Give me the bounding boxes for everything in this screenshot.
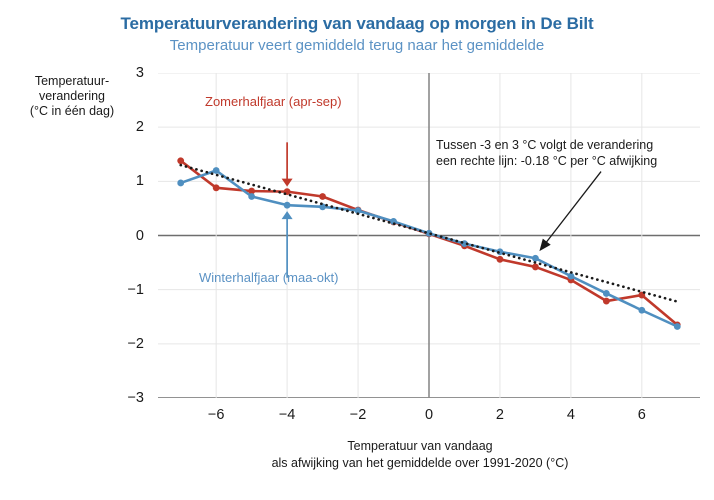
x-axis-tick-label: −2 — [338, 407, 378, 423]
series-label-winter: Winterhalfjaar (maa-okt) — [199, 270, 338, 285]
data-point-winter-7[interactable] — [674, 323, 681, 330]
y-axis-tick-label: −1 — [110, 282, 144, 298]
page-subtitle: Temperatuur veert gemiddeld terug naar h… — [0, 37, 714, 54]
trend-annotation-arrow-line — [546, 172, 601, 244]
data-point-winter-5[interactable] — [603, 290, 610, 297]
trendline-annotation-line2: een rechte lijn: -0.18 °C per °C afwijki… — [436, 153, 657, 169]
data-point-summer-5[interactable] — [603, 298, 610, 305]
trend-annotation-arrow-head — [539, 239, 550, 252]
chart-canvas — [158, 73, 700, 398]
chart-page: Temperatuurverandering van vandaag op mo… — [0, 0, 714, 500]
summer-annotation-arrow-head — [282, 179, 293, 187]
page-title: Temperatuurverandering van vandaag op mo… — [0, 14, 714, 34]
trendline-annotation-line1: Tussen -3 en 3 °C volgt de verandering — [436, 137, 657, 153]
data-point-winter-6[interactable] — [638, 307, 645, 314]
y-axis-tick-label: 0 — [110, 228, 144, 244]
data-point-winter-4[interactable] — [567, 273, 574, 280]
x-axis-tick-label: 6 — [622, 407, 662, 423]
trendline-annotation: Tussen -3 en 3 °C volgt de verandering e… — [436, 137, 657, 169]
y-axis-title-line2: verandering — [8, 89, 136, 104]
y-axis-tick-label: 2 — [110, 119, 144, 135]
data-point-winter--7[interactable] — [177, 180, 184, 187]
plot-area — [158, 73, 700, 398]
x-axis-tick-label: 2 — [480, 407, 520, 423]
y-axis-tick-label: 3 — [110, 65, 144, 81]
x-axis-tick-label: 4 — [551, 407, 591, 423]
y-axis-tick-label: −3 — [110, 390, 144, 406]
data-point-winter--6[interactable] — [213, 167, 220, 174]
y-axis-title-line3: (°C in één dag) — [8, 104, 136, 119]
data-point-winter--4[interactable] — [284, 202, 291, 209]
x-axis-title-line1: Temperatuur van vandaag — [140, 438, 700, 455]
data-point-winter-3[interactable] — [532, 255, 539, 262]
x-axis-tick-label: −6 — [196, 407, 236, 423]
x-axis-title: Temperatuur van vandaag als afwijking va… — [140, 438, 700, 472]
x-axis-tick-label: 0 — [409, 407, 449, 423]
winter-annotation-arrow-head — [282, 211, 293, 219]
data-point-summer--6[interactable] — [213, 184, 220, 191]
series-label-summer: Zomerhalfjaar (apr-sep) — [205, 94, 342, 109]
y-axis-tick-label: −2 — [110, 336, 144, 352]
data-point-summer--7[interactable] — [177, 157, 184, 164]
data-point-winter--5[interactable] — [248, 193, 255, 200]
data-point-summer--3[interactable] — [319, 193, 326, 200]
data-point-summer-2[interactable] — [497, 256, 504, 263]
x-axis-tick-label: −4 — [267, 407, 307, 423]
x-axis-title-line2: als afwijking van het gemiddelde over 19… — [140, 455, 700, 472]
y-axis-tick-label: 1 — [110, 173, 144, 189]
data-point-summer-3[interactable] — [532, 264, 539, 271]
